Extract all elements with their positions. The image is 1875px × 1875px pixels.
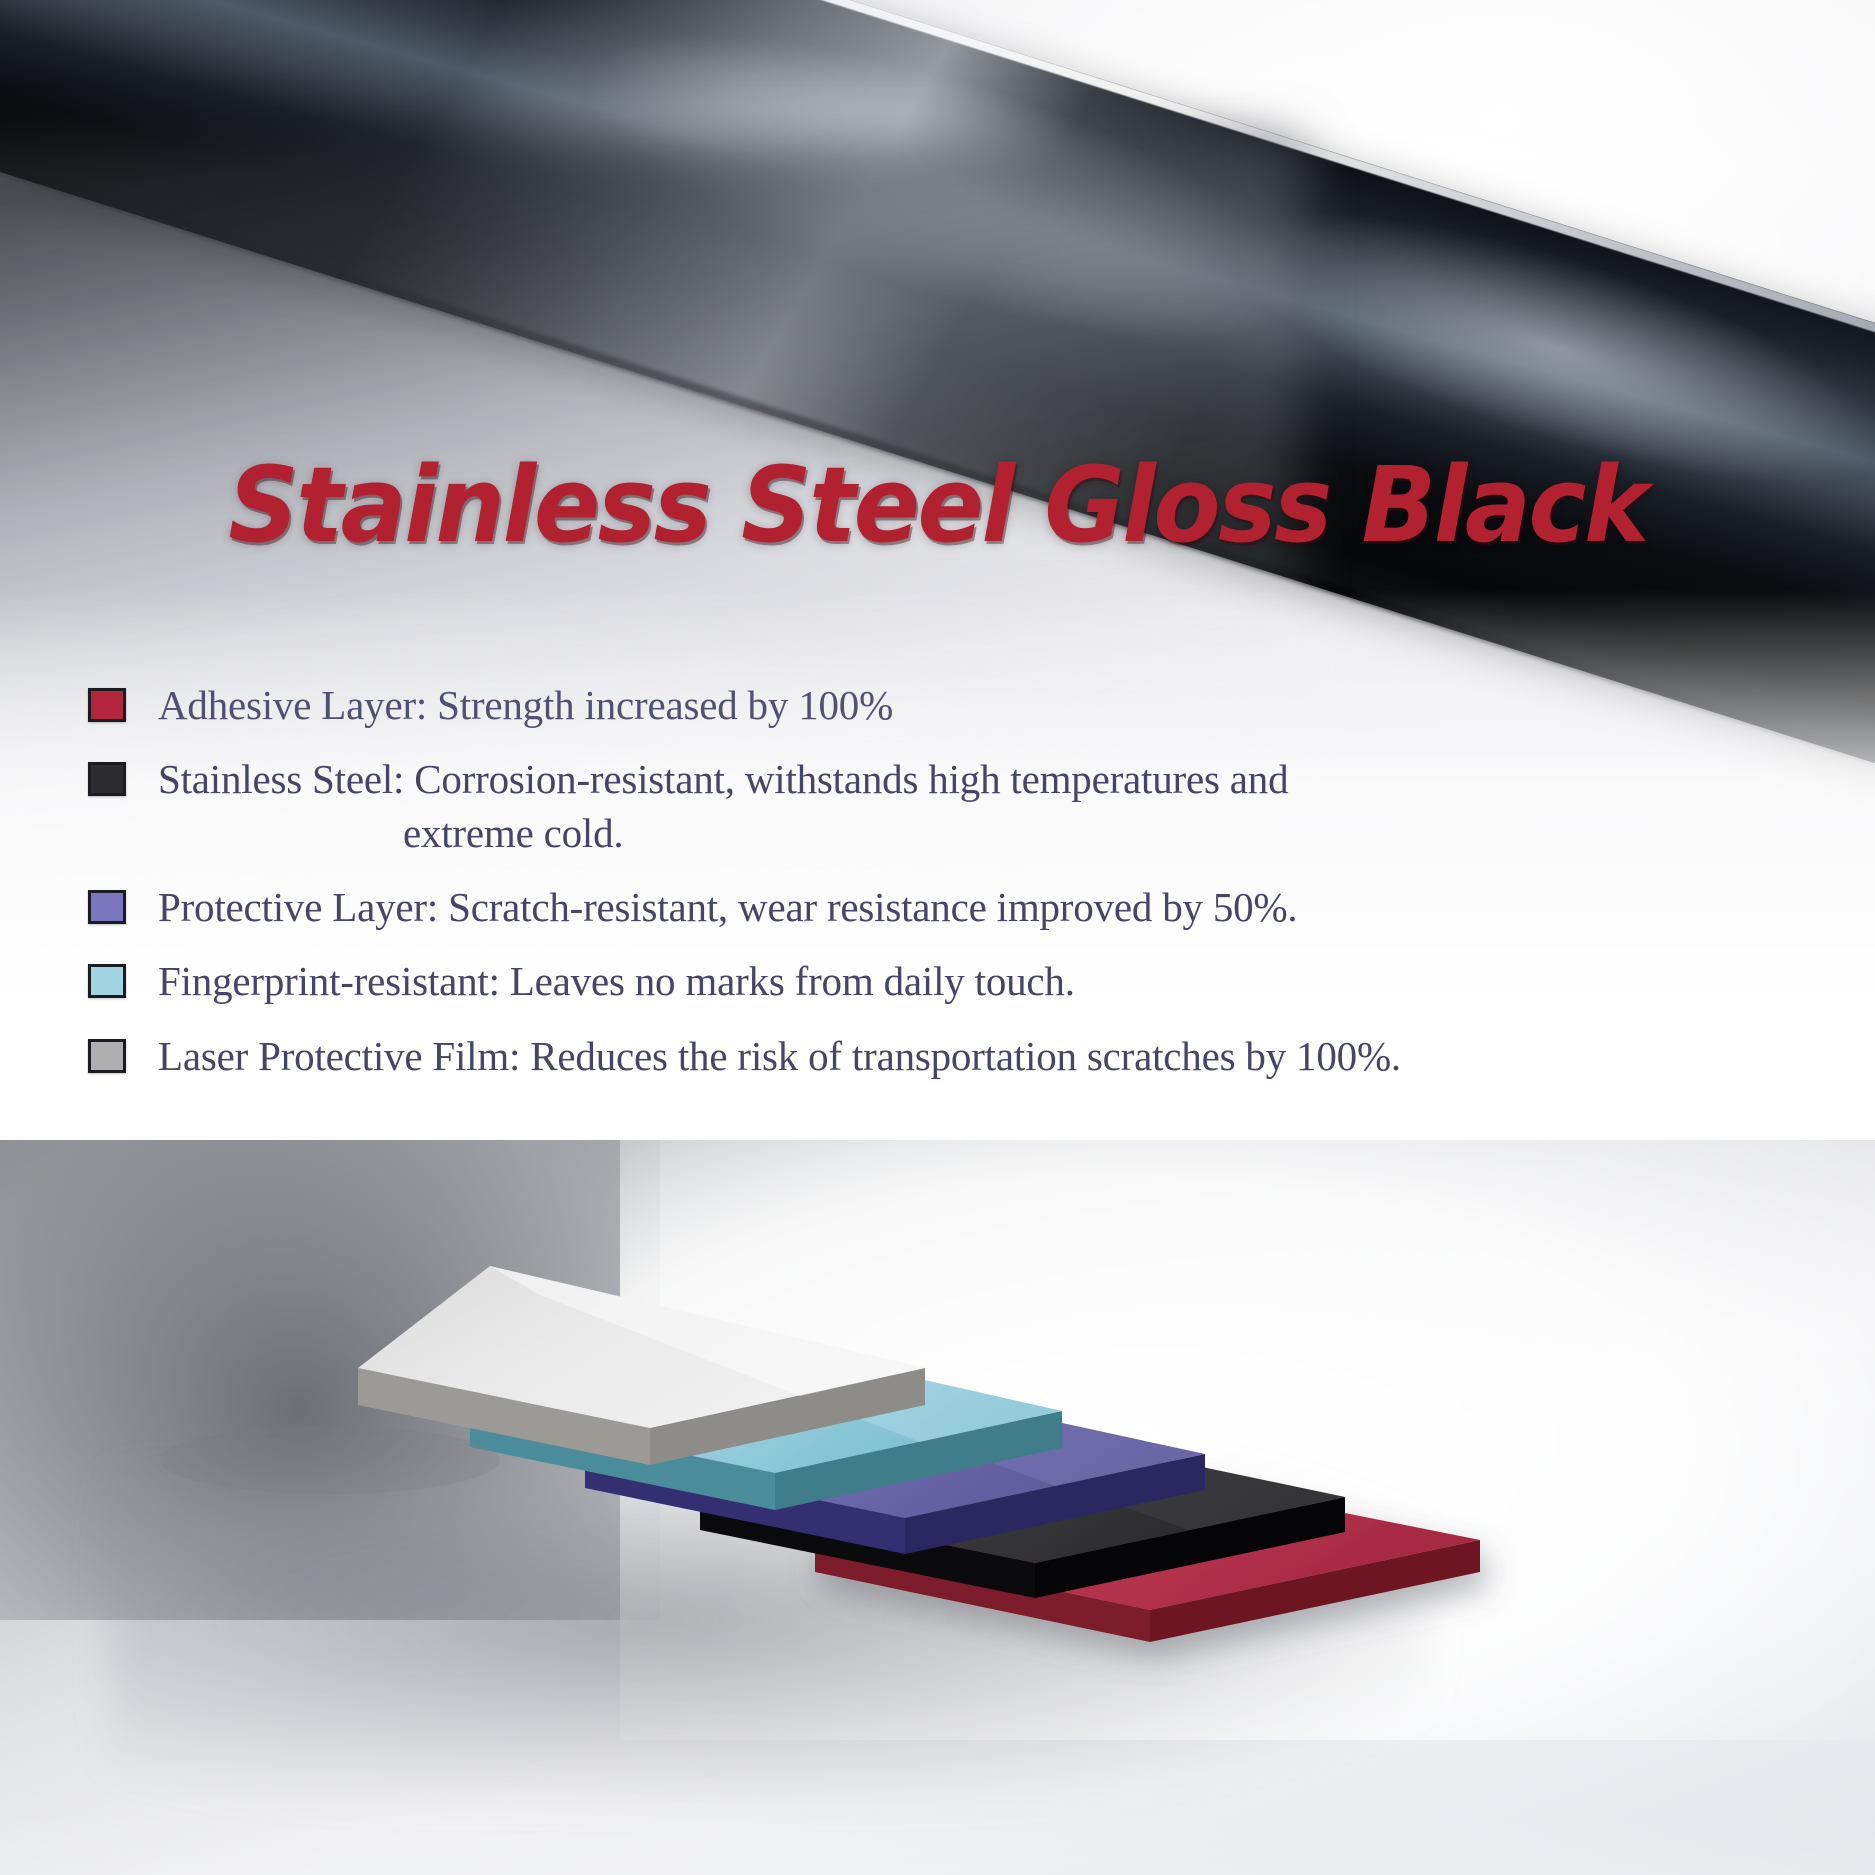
product-infographic-poster: Stainless Steel Gloss Black Adhesive Lay… [0, 0, 1875, 1875]
stack-plates [0, 1140, 1875, 1875]
feature-row-adhesive-layer: Adhesive Layer: Strength increased by 10… [88, 678, 1828, 732]
page-title: Stainless Steel Gloss Black [56, 452, 1819, 558]
feature-text-adhesive-layer: Adhesive Layer: Strength increased by 10… [158, 678, 893, 732]
feature-text-laser-protective-film: Laser Protective Film: Reduces the risk … [158, 1029, 1401, 1083]
protective-layer-swatch [88, 890, 126, 924]
feature-text-stainless-steel-line1: Stainless Steel: Corrosion-resistant, wi… [158, 756, 1288, 802]
layer-stack-illustration [0, 1140, 1875, 1875]
fingerprint-resistant-swatch [88, 964, 126, 998]
feature-text-protective-layer: Protective Layer: Scratch-resistant, wea… [158, 880, 1297, 934]
adhesive-layer-swatch [88, 688, 126, 722]
feature-text-stainless-steel: Stainless Steel: Corrosion-resistant, wi… [158, 752, 1288, 860]
feature-list: Adhesive Layer: Strength increased by 10… [88, 678, 1828, 1103]
laser-protective-film-swatch [88, 1039, 126, 1073]
feature-row-protective-layer: Protective Layer: Scratch-resistant, wea… [88, 880, 1828, 934]
feature-row-stainless-steel: Stainless Steel: Corrosion-resistant, wi… [88, 752, 1828, 860]
stainless-steel-swatch [88, 762, 126, 796]
stack-svg [0, 1140, 1875, 1875]
feature-row-fingerprint-resistant: Fingerprint-resistant: Leaves no marks f… [88, 954, 1828, 1008]
feature-row-laser-protective-film: Laser Protective Film: Reduces the risk … [88, 1029, 1828, 1083]
feature-text-fingerprint-resistant: Fingerprint-resistant: Leaves no marks f… [158, 954, 1075, 1008]
feature-text-stainless-steel-line2: extreme cold. [158, 806, 1288, 860]
